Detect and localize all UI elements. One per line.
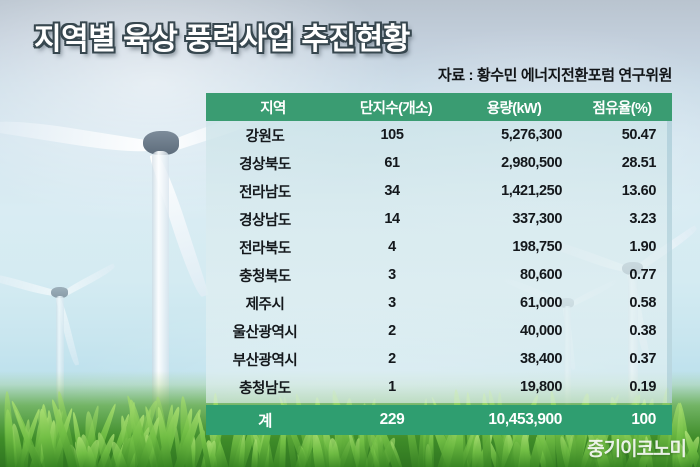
column-header-share: 점유율(%) bbox=[576, 93, 672, 121]
table-row: 충청남도119,8000.19 bbox=[206, 373, 672, 401]
cell-share: 0.19 bbox=[576, 373, 672, 401]
cell-region: 제주시 bbox=[206, 289, 340, 317]
cell-capacity: 1,421,250 bbox=[452, 177, 576, 205]
publisher-watermark: 중기이코노미 bbox=[587, 434, 686, 461]
cell-share: 0.38 bbox=[576, 317, 672, 345]
table-row: 제주시361,0000.58 bbox=[206, 289, 672, 317]
cell-share: 28.51 bbox=[576, 149, 672, 177]
cell-share: 13.60 bbox=[576, 177, 672, 205]
table-row: 부산광역시238,4000.37 bbox=[206, 345, 672, 373]
cell-share: 0.58 bbox=[576, 289, 672, 317]
table-body: 강원도1055,276,30050.47경상북도612,980,50028.51… bbox=[206, 121, 672, 429]
cell-capacity: 80,600 bbox=[452, 261, 576, 289]
source-credit: 자료 : 황수민 에너지전환포럼 연구위원 bbox=[438, 64, 672, 85]
cell-region: 경상북도 bbox=[206, 149, 340, 177]
cell-share: 50.47 bbox=[576, 121, 672, 149]
table-total-row: 계 229 10,453,900 100 bbox=[206, 405, 672, 435]
table-row: 전라남도341,421,25013.60 bbox=[206, 177, 672, 205]
cell-sites: 1 bbox=[340, 373, 452, 401]
cell-capacity: 40,000 bbox=[452, 317, 576, 345]
table-header-row: 지역 단지수(개소) 용량(kW) 점유율(%) bbox=[206, 93, 672, 121]
table-row: 충청북도380,6000.77 bbox=[206, 261, 672, 289]
column-header-sites: 단지수(개소) bbox=[340, 93, 452, 121]
infographic-canvas: 지역별 육상 풍력사업 추진현황 자료 : 황수민 에너지전환포럼 연구위원 지… bbox=[0, 0, 700, 467]
table-header: 지역 단지수(개소) 용량(kW) 점유율(%) bbox=[206, 93, 672, 121]
turbine-blade bbox=[0, 271, 58, 299]
cell-capacity: 19,800 bbox=[452, 373, 576, 401]
cell-sites: 4 bbox=[340, 233, 452, 261]
cell-region: 충청북도 bbox=[206, 261, 340, 289]
cell-region: 강원도 bbox=[206, 121, 340, 149]
turbine-blade bbox=[0, 116, 153, 157]
wind-power-table: 지역 단지수(개소) 용량(kW) 점유율(%) 강원도1055,276,300… bbox=[206, 93, 672, 429]
column-header-capacity: 용량(kW) bbox=[452, 93, 576, 121]
cell-region: 충청남도 bbox=[206, 373, 340, 401]
cell-sites: 3 bbox=[340, 261, 452, 289]
table-row: 경상북도612,980,50028.51 bbox=[206, 149, 672, 177]
cell-sites: 3 bbox=[340, 289, 452, 317]
cell-region: 부산광역시 bbox=[206, 345, 340, 373]
cell-capacity: 5,276,300 bbox=[452, 121, 576, 149]
page-title: 지역별 육상 풍력사업 추진현황 bbox=[34, 14, 410, 58]
cell-sites: 61 bbox=[340, 149, 452, 177]
cell-region: 전라남도 bbox=[206, 177, 340, 205]
cell-share: 3.23 bbox=[576, 205, 672, 233]
table-row: 강원도1055,276,30050.47 bbox=[206, 121, 672, 149]
table-row: 울산광역시240,0000.38 bbox=[206, 317, 672, 345]
table-row: 경상남도14337,3003.23 bbox=[206, 205, 672, 233]
total-label: 계 bbox=[206, 409, 340, 431]
total-capacity: 10,453,900 bbox=[452, 411, 576, 429]
cell-sites: 14 bbox=[340, 205, 452, 233]
cell-region: 경상남도 bbox=[206, 205, 340, 233]
table-row: 전라북도4198,7501.90 bbox=[206, 233, 672, 261]
cell-capacity: 198,750 bbox=[452, 233, 576, 261]
cell-share: 0.37 bbox=[576, 345, 672, 373]
cell-capacity: 38,400 bbox=[452, 345, 576, 373]
cell-capacity: 337,300 bbox=[452, 205, 576, 233]
cell-sites: 2 bbox=[340, 317, 452, 345]
cell-share: 0.77 bbox=[576, 261, 672, 289]
cell-capacity: 61,000 bbox=[452, 289, 576, 317]
cell-region: 전라북도 bbox=[206, 233, 340, 261]
cell-capacity: 2,980,500 bbox=[452, 149, 576, 177]
cell-sites: 34 bbox=[340, 177, 452, 205]
cell-sites: 2 bbox=[340, 345, 452, 373]
cell-share: 1.90 bbox=[576, 233, 672, 261]
total-sites: 229 bbox=[340, 411, 452, 429]
column-header-region: 지역 bbox=[206, 93, 340, 121]
cell-sites: 105 bbox=[340, 121, 452, 149]
total-share: 100 bbox=[576, 411, 672, 429]
cell-region: 울산광역시 bbox=[206, 317, 340, 345]
